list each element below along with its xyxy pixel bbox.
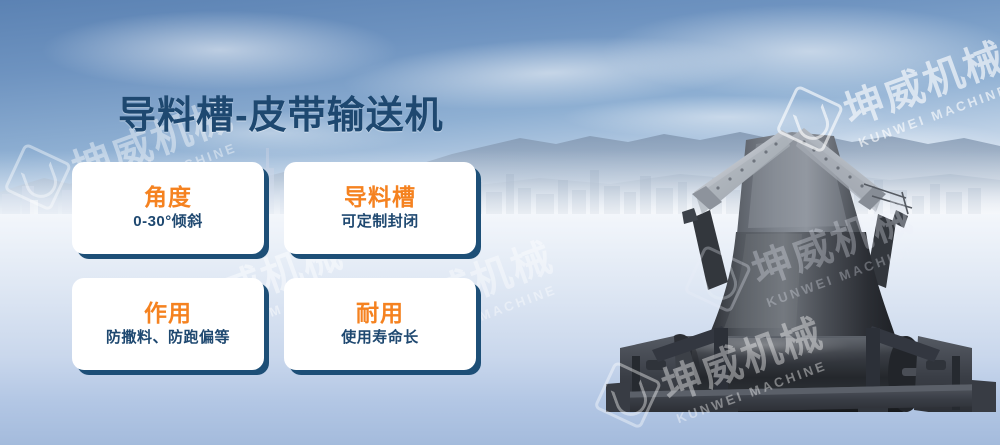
page-title: 导料槽-皮带输送机: [118, 84, 444, 139]
feature-card-skirt-board[interactable]: 导料槽 可定制封闭: [284, 162, 476, 254]
feature-card-title: 作用: [144, 301, 192, 326]
feature-card-title: 角度: [144, 185, 192, 210]
feature-card-grid: 角度 0-30°倾斜 导料槽 可定制封闭 作用 防撒料、防跑偏等 耐用 使用寿命…: [72, 162, 476, 370]
feature-card-function[interactable]: 作用 防撒料、防跑偏等: [72, 278, 264, 370]
feature-card-subtitle: 可定制封闭: [341, 213, 419, 231]
feature-card-angle[interactable]: 角度 0-30°倾斜: [72, 162, 264, 254]
feature-card-title: 导料槽: [344, 185, 416, 210]
product-banner: 坤威机械 KUNWEI MACHINE 坤威机械 KUNWEI MACHINE …: [0, 0, 1000, 445]
belt-conveyor-illustration: [596, 122, 1000, 412]
feature-card-durability[interactable]: 耐用 使用寿命长: [284, 278, 476, 370]
feature-card-subtitle: 使用寿命长: [341, 329, 419, 347]
feature-card-title: 耐用: [356, 301, 404, 326]
feature-card-subtitle: 0-30°倾斜: [133, 213, 203, 231]
cloud-decoration: [600, 4, 1000, 99]
feature-card-subtitle: 防撒料、防跑偏等: [106, 329, 230, 347]
cloud-decoration: [40, 10, 400, 90]
